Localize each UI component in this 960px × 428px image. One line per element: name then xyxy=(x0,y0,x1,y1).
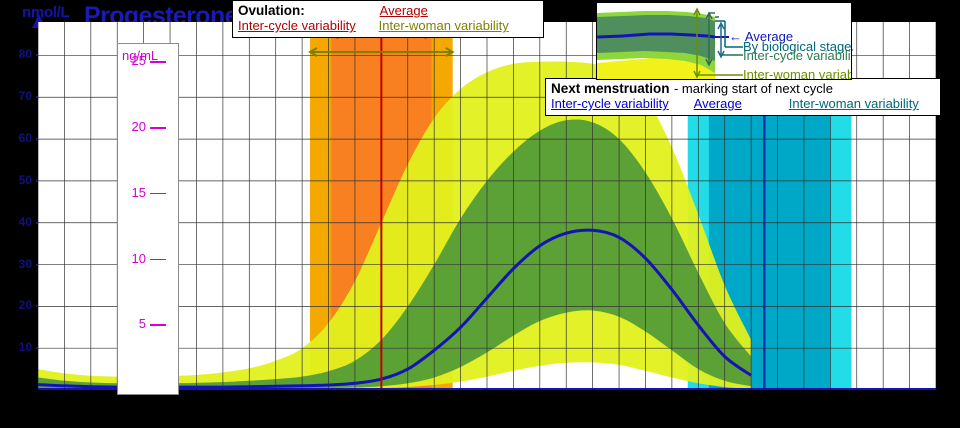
ngml-scale-box xyxy=(117,43,179,395)
ngml-tick-label: 10 xyxy=(120,251,146,266)
ngml-tick xyxy=(150,61,166,63)
legend-inter-woman-label: Inter-woman variability xyxy=(743,67,852,80)
y-axis-tick-label: 40 xyxy=(2,216,32,228)
ovulation-average-label: Average xyxy=(380,3,428,18)
y-axis-tick-label: 70 xyxy=(2,90,32,102)
ngml-tick xyxy=(150,259,166,261)
ngml-tick-label: 20 xyxy=(120,119,146,134)
ngml-tick-label: 25 xyxy=(120,53,146,68)
ngml-tick xyxy=(150,127,166,129)
ovulation-inter-cycle-label: Inter-cycle variability xyxy=(238,18,356,33)
ngml-tick-label: 15 xyxy=(120,185,146,200)
y-axis-tick-label: 80 xyxy=(2,48,32,60)
ngml-tick xyxy=(150,324,166,326)
y-axis-tick-label: 20 xyxy=(2,299,32,311)
ngml-tick xyxy=(150,193,166,195)
next-menstruation-subtitle: - marking start of next cycle xyxy=(674,81,833,96)
ovulation-callout: Ovulation: Average Inter-cycle variabili… xyxy=(232,0,544,38)
y-axis-tick-label: 30 xyxy=(2,258,32,270)
ngml-tick-label: 5 xyxy=(120,316,146,331)
next-average-label: Average xyxy=(694,96,742,111)
legend-arrow-icon: ← xyxy=(729,29,742,44)
next-inter-cycle-label: Inter-cycle variability xyxy=(551,96,669,111)
y-axis-tick-label: 50 xyxy=(2,174,32,186)
ovulation-inter-woman-label: Inter-woman variability xyxy=(379,18,509,33)
legend-inter-cycle-label: Inter-cycle variability xyxy=(743,48,852,63)
y-axis-tick-label: 10 xyxy=(2,341,32,353)
next-menstruation-title: Next menstruation xyxy=(551,81,670,96)
progesterone-chart-figure: nmol/L Progesterone during the menstrual… xyxy=(0,0,960,428)
ovulation-title: Ovulation: xyxy=(238,3,305,18)
next-menstruation-callout: Next menstruation - marking start of nex… xyxy=(545,78,941,116)
legend-box: ← Average By biological stage Inter-cycl… xyxy=(596,2,852,80)
next-inter-woman-label: Inter-woman variability xyxy=(789,96,919,111)
y-axis-tick-label: 60 xyxy=(2,132,32,144)
